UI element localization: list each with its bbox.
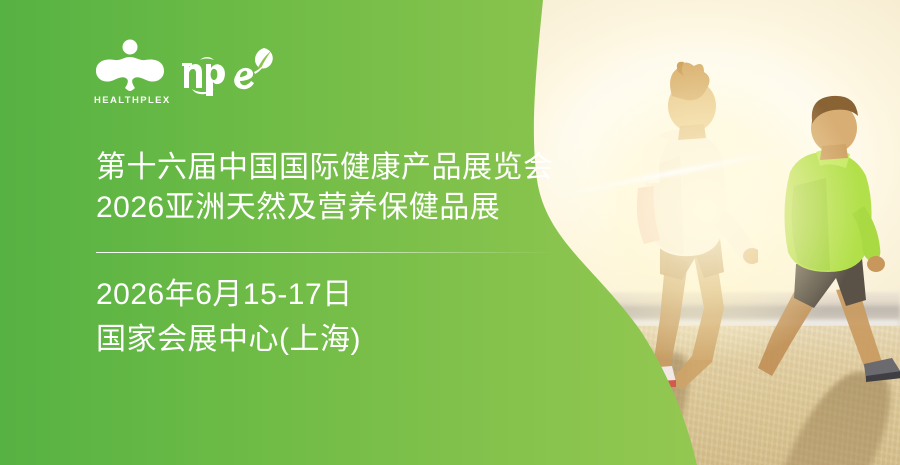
event-title-block: 第十六届中国国际健康产品展览会 2026亚洲天然及营养保健品展 [96, 148, 554, 228]
npe-logo[interactable] [180, 42, 284, 103]
butterfly-person-mark [94, 38, 166, 92]
event-title-line-1: 第十六届中国国际健康产品展览会 [96, 148, 554, 188]
npe-wordmark [180, 42, 284, 98]
event-venue: 国家会展中心(上海) [96, 317, 361, 362]
event-date: 2026年6月15-17日 [96, 272, 361, 317]
event-title-line-2: 2026亚洲天然及营养保健品展 [96, 188, 554, 228]
healthplex-logo[interactable]: HEALTHPLEX [94, 38, 166, 106]
event-details-block: 2026年6月15-17日 国家会展中心(上海) [96, 272, 361, 362]
healthplex-wordmark: HEALTHPLEX [94, 95, 166, 106]
divider-rule [96, 252, 558, 253]
logo-group: HEALTHPLEX [94, 38, 284, 106]
event-banner: HEALTHPLEX [0, 0, 900, 465]
banner-content: HEALTHPLEX [0, 0, 560, 465]
